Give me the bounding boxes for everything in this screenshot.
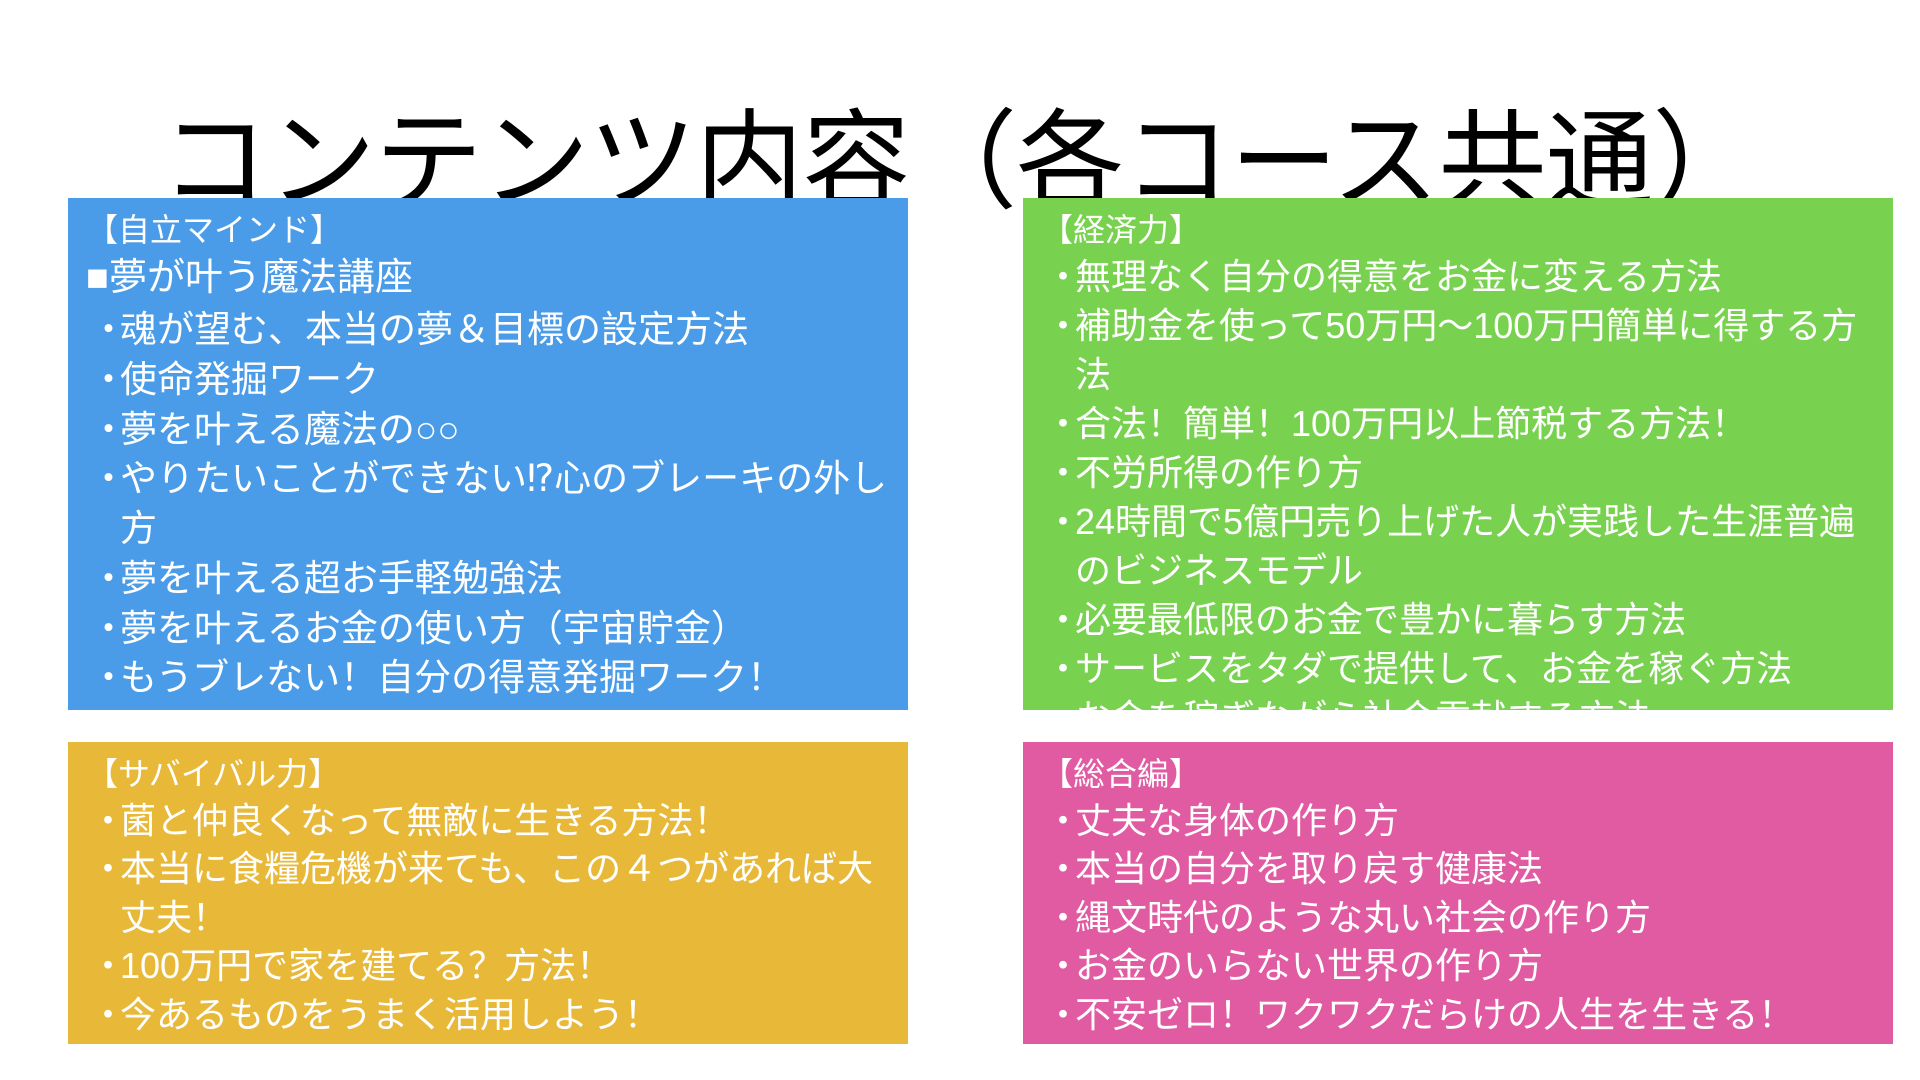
- list-item: ・ 不労所得の作り方: [1041, 449, 1875, 498]
- bullet-icon: ・: [1045, 991, 1081, 1039]
- bullet-icon: ・: [1045, 845, 1081, 893]
- bullet-icon: ・: [1045, 942, 1081, 990]
- list-item-label: 夢を叶える魔法の○○: [120, 409, 460, 450]
- bullet-icon: ・: [90, 991, 126, 1039]
- list-item-label: 無理なく自分の得意をお金に変える方法: [1075, 256, 1722, 297]
- bullet-icon: ・: [1045, 253, 1081, 302]
- bullet-icon: ・: [1045, 894, 1081, 942]
- list-item-label: 不安ゼロ！ワクワクだらけの人生を生きる！: [1075, 994, 1794, 1035]
- list-item: ・ 本当の自分を取り戻す健康法: [1041, 845, 1875, 893]
- bullet-icon: ・: [1045, 645, 1081, 694]
- list-item-label: 使命発掘ワーク: [120, 359, 379, 400]
- list-item: ・ 今あるものをうまく活用しよう！: [86, 991, 890, 1039]
- bullet-icon: ・: [90, 554, 127, 604]
- list-item-label: 100万円で家を建てる？方法！: [120, 945, 612, 986]
- panel-economic-power: 【経済力】 ・ 無理なく自分の得意をお金に変える方法 ・ 補助金を使って50万円…: [1023, 198, 1893, 710]
- bullet-icon: ・: [90, 653, 127, 703]
- panel-survival-power: 【サバイバル力】 ・ 菌と仲良くなって無敵に生きる方法！ ・ 本当に食糧危機が来…: [68, 742, 908, 1044]
- bullet-icon: ・: [90, 454, 127, 504]
- list-item-label: 補助金を使って50万円～100万円簡単に得する方法: [1075, 305, 1857, 395]
- bullet-icon: ・: [90, 604, 127, 654]
- list-item-label: 夢を叶えるお金の使い方（宇宙貯金）: [120, 608, 748, 649]
- bullet-icon: ・: [90, 305, 127, 355]
- bullet-icon: ・: [90, 355, 127, 405]
- list-item: ・ 夢を叶える超お手軽勉強法: [86, 554, 890, 604]
- list-item: ・ やりたいことができない⁉心のブレーキの外し方: [86, 454, 890, 554]
- bullet-icon: ・: [90, 845, 126, 893]
- list-item-label: 魂が望む、本当の夢＆目標の設定方法: [120, 309, 749, 350]
- bullet-icon: ・: [1045, 694, 1081, 743]
- list-item-label: 菌と仲良くなって無敵に生きる方法！: [120, 800, 729, 841]
- panel-list-independent-mind: ・ 魂が望む、本当の夢＆目標の設定方法 ・ 使命発掘ワーク ・ 夢を叶える魔法の…: [86, 305, 890, 703]
- list-item-label: 丈夫な身体の作り方: [1075, 800, 1399, 841]
- list-item-label: 24時間で5億円売り上げた人が実践した生涯普遍のビジネスモデル: [1075, 501, 1855, 591]
- bullet-icon: ・: [1045, 302, 1081, 351]
- list-item: ・ お金のいらない世界の作り方: [1041, 942, 1875, 990]
- list-item-label: お金を稼ぎながら社会貢献する方法: [1075, 697, 1651, 738]
- list-item: ・ 合法！簡単！100万円以上節税する方法！: [1041, 400, 1875, 449]
- list-item: ・ お金を稼ぎながら社会貢献する方法: [1041, 694, 1875, 743]
- panel-heading-independent-mind: 【自立マインド】: [86, 210, 890, 251]
- bullet-icon: ・: [90, 942, 126, 990]
- list-item: ・ 補助金を使って50万円～100万円簡単に得する方法: [1041, 302, 1875, 400]
- list-item-label: サービスをタダで提供して、お金を稼ぐ方法: [1075, 648, 1792, 689]
- list-item: ・ 魂が望む、本当の夢＆目標の設定方法: [86, 305, 890, 355]
- list-item: ・ 縄文時代のような丸い社会の作り方: [1041, 894, 1875, 942]
- panel-general-edition: 【総合編】 ・ 丈夫な身体の作り方 ・ 本当の自分を取り戻す健康法 ・ 縄文時代…: [1023, 742, 1893, 1044]
- bullet-icon: ・: [1045, 498, 1081, 547]
- panel-subheading-independent-mind: ■夢が叶う魔法講座: [86, 253, 890, 303]
- bullet-icon: ・: [90, 797, 126, 845]
- panel-heading-economic-power: 【経済力】: [1041, 210, 1875, 251]
- panel-heading-survival-power: 【サバイバル力】: [86, 754, 890, 795]
- bullet-icon: ・: [1045, 797, 1081, 845]
- list-item: ・ 使命発掘ワーク: [86, 355, 890, 405]
- list-item: ・ 不安ゼロ！ワクワクだらけの人生を生きる！: [1041, 991, 1875, 1039]
- list-item: ・ 本当に食糧危機が来ても、この４つがあれば大丈夫！: [86, 845, 890, 942]
- panel-independent-mind: 【自立マインド】 ■夢が叶う魔法講座 ・ 魂が望む、本当の夢＆目標の設定方法 ・…: [68, 198, 908, 710]
- bullet-icon: ・: [1045, 449, 1081, 498]
- list-item-label: 本当の自分を取り戻す健康法: [1075, 848, 1543, 889]
- panel-list-economic-power: ・ 無理なく自分の得意をお金に変える方法 ・ 補助金を使って50万円～100万円…: [1041, 253, 1875, 743]
- list-item: ・ 菌と仲良くなって無敵に生きる方法！: [86, 797, 890, 845]
- list-item: ・ 無理なく自分の得意をお金に変える方法: [1041, 253, 1875, 302]
- list-item: ・ もうブレない！自分の得意発掘ワーク！: [86, 653, 890, 703]
- list-item-label: やりたいことができない⁉心のブレーキの外し方: [120, 458, 887, 549]
- list-item-label: お金のいらない世界の作り方: [1075, 945, 1543, 986]
- list-item-label: 今あるものをうまく活用しよう！: [120, 994, 660, 1035]
- bullet-icon: ・: [90, 405, 127, 455]
- list-item: ・ 丈夫な身体の作り方: [1041, 797, 1875, 845]
- list-item-label: 本当に食糧危機が来ても、この４つがあれば大丈夫！: [120, 848, 873, 937]
- list-item: ・ サービスをタダで提供して、お金を稼ぐ方法: [1041, 645, 1875, 694]
- list-item: ・ 夢を叶える魔法の○○: [86, 405, 890, 455]
- list-item-label: もうブレない！自分の得意発掘ワーク！: [120, 657, 784, 698]
- list-item: ・ 夢を叶えるお金の使い方（宇宙貯金）: [86, 604, 890, 654]
- list-item-label: 必要最低限のお金で豊かに暮らす方法: [1075, 599, 1686, 640]
- panel-heading-general-edition: 【総合編】: [1041, 754, 1875, 795]
- panel-list-general-edition: ・ 丈夫な身体の作り方 ・ 本当の自分を取り戻す健康法 ・ 縄文時代のような丸い…: [1041, 797, 1875, 1039]
- bullet-icon: ・: [1045, 596, 1081, 645]
- list-item: ・ 24時間で5億円売り上げた人が実践した生涯普遍のビジネスモデル: [1041, 498, 1875, 596]
- list-item-label: 夢を叶える超お手軽勉強法: [120, 558, 563, 599]
- bullet-icon: ・: [1045, 400, 1081, 449]
- panel-list-survival-power: ・ 菌と仲良くなって無敵に生きる方法！ ・ 本当に食糧危機が来ても、この４つがあ…: [86, 797, 890, 1039]
- slide-root: コンテンツ内容（各コース共通） 【自立マインド】 ■夢が叶う魔法講座 ・ 魂が望…: [0, 0, 1920, 1080]
- list-item-label: 不労所得の作り方: [1075, 452, 1363, 493]
- list-item-label: 縄文時代のような丸い社会の作り方: [1075, 897, 1651, 938]
- list-item-label: 合法！簡単！100万円以上節税する方法！: [1075, 403, 1747, 444]
- list-item: ・ 100万円で家を建てる？方法！: [86, 942, 890, 990]
- list-item: ・ 必要最低限のお金で豊かに暮らす方法: [1041, 596, 1875, 645]
